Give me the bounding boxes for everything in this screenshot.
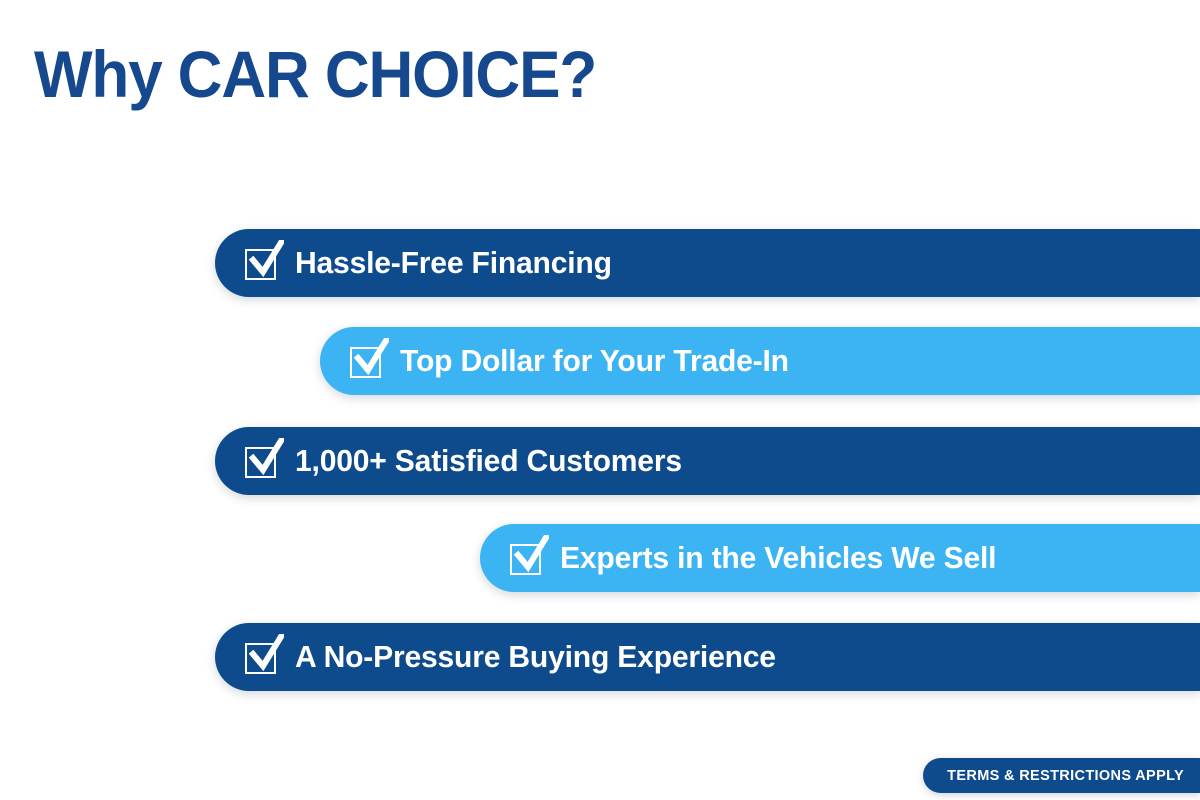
checkbox-checked-icon [245, 444, 279, 478]
terms-label: TERMS & RESTRICTIONS APPLY [947, 768, 1184, 784]
promo-canvas: Why CAR CHOICE? Hassle-Free Financing To… [0, 0, 1200, 800]
benefit-banner-hassle-free-financing[interactable]: Hassle-Free Financing [215, 229, 1200, 297]
checkbox-checked-icon [350, 344, 384, 378]
benefit-banner-experts-in-vehicles[interactable]: Experts in the Vehicles We Sell [480, 524, 1200, 592]
benefit-label: Experts in the Vehicles We Sell [560, 540, 996, 576]
terms-and-restrictions-badge[interactable]: TERMS & RESTRICTIONS APPLY [923, 758, 1200, 793]
checkbox-checked-icon [245, 640, 279, 674]
benefit-label: Hassle-Free Financing [295, 245, 612, 281]
page-title: Why CAR CHOICE? [34, 36, 596, 112]
benefit-banner-top-dollar-trade-in[interactable]: Top Dollar for Your Trade-In [320, 327, 1200, 395]
benefit-label: Top Dollar for Your Trade-In [400, 343, 789, 379]
benefit-label: 1,000+ Satisfied Customers [295, 443, 682, 479]
benefit-banner-satisfied-customers[interactable]: 1,000+ Satisfied Customers [215, 427, 1200, 495]
checkbox-checked-icon [245, 246, 279, 280]
benefit-banner-no-pressure-buying[interactable]: A No-Pressure Buying Experience [215, 623, 1200, 691]
promo-content: Why CAR CHOICE? Hassle-Free Financing To… [0, 0, 1200, 800]
checkbox-checked-icon [510, 541, 544, 575]
benefit-label: A No-Pressure Buying Experience [295, 639, 776, 675]
